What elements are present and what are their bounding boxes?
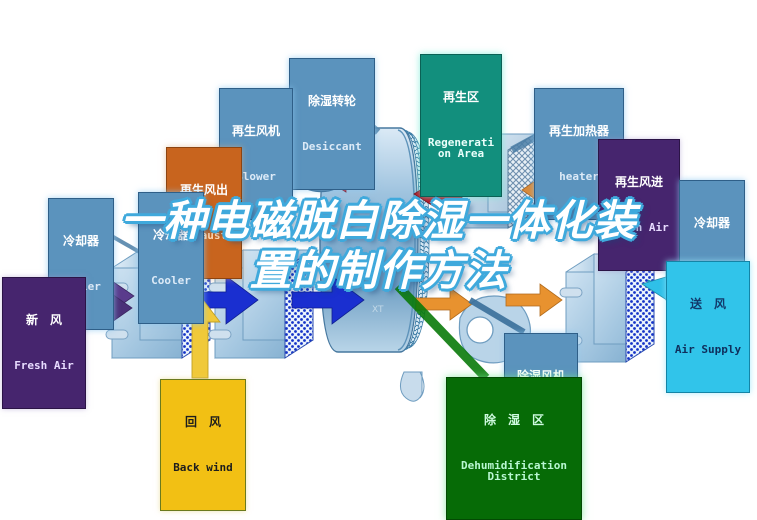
- label-cn: 再生加热器: [539, 125, 619, 138]
- label-regen-fresh-air[interactable]: 再生风进 Fresh Air: [598, 139, 680, 271]
- label-dehumidification-district[interactable]: 除 湿 区 Dehumidification District: [446, 377, 582, 520]
- label-cn: 除湿转轮: [294, 95, 370, 108]
- label-cn: 再生风机: [224, 125, 288, 138]
- label-cn: 回 风: [165, 416, 241, 429]
- label-desiccant-wheel[interactable]: 除湿转轮 Desiccant: [289, 58, 375, 190]
- label-en: Fresh Air: [7, 360, 81, 372]
- label-cn: 送 风: [671, 298, 745, 311]
- label-regeneration-area[interactable]: 再生区 Regenerati on Area: [420, 54, 502, 197]
- label-cn: 冷却器: [53, 235, 109, 248]
- label-cn: 再生风进: [603, 176, 675, 189]
- diagram-canvas: XT: [0, 0, 757, 488]
- svg-text:XT: XT: [372, 305, 384, 315]
- label-cn: 再生区: [425, 91, 497, 104]
- label-en: Regenerati on Area: [425, 137, 497, 160]
- label-fresh-air-inlet[interactable]: 新 风 Fresh Air: [2, 277, 86, 409]
- label-air-supply[interactable]: 送 风 Air Supply: [666, 261, 750, 393]
- label-back-wind[interactable]: 回 风 Back wind: [160, 379, 246, 511]
- label-cn: 冷却器: [684, 217, 740, 230]
- label-en: Fresh Air: [603, 222, 675, 234]
- label-cn: 新 风: [7, 314, 81, 327]
- label-cn: 冷却器: [143, 229, 199, 242]
- label-cooler-left-2[interactable]: 冷却器 Cooler: [138, 192, 204, 324]
- label-en: Dehumidification District: [451, 460, 577, 483]
- label-en: Desiccant: [294, 141, 370, 153]
- label-en: Cooler: [143, 275, 199, 287]
- label-cn: 除 湿 区: [451, 414, 577, 427]
- label-en: Back wind: [165, 462, 241, 474]
- label-en: Air Supply: [671, 344, 745, 356]
